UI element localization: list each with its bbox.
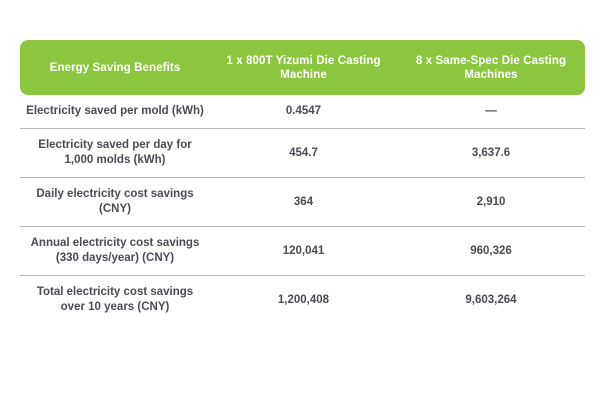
row-label: Total electricity cost savings over 10 y… (20, 276, 210, 325)
column-header-benefits-label: Energy Saving Benefits (20, 61, 210, 75)
energy-savings-table-container: Energy Saving Benefits 1 x 800T Yizumi D… (20, 40, 585, 324)
energy-savings-table: Energy Saving Benefits 1 x 800T Yizumi D… (20, 40, 585, 324)
table-row: Electricity saved per mold (kWh) 0.4547 … (20, 95, 585, 129)
row-value-eight-machines: — (397, 95, 585, 129)
row-value-single-machine: 1,200,408 (210, 276, 397, 325)
row-value-single-machine: 364 (210, 178, 397, 227)
table-row: Daily electricity cost savings (CNY) 364… (20, 178, 585, 227)
column-header-benefits: Energy Saving Benefits (20, 40, 210, 95)
row-label: Electricity saved per mold (kWh) (20, 95, 210, 129)
row-label: Daily electricity cost savings (CNY) (20, 178, 210, 227)
row-value-eight-machines: 9,603,264 (397, 276, 585, 325)
table-header-row: Energy Saving Benefits 1 x 800T Yizumi D… (20, 40, 585, 95)
table-row: Electricity saved per day for 1,000 mold… (20, 129, 585, 178)
column-header-single-machine: 1 x 800T Yizumi Die Casting Machine (210, 40, 397, 95)
table-header: Energy Saving Benefits 1 x 800T Yizumi D… (20, 40, 585, 95)
row-label: Electricity saved per day for 1,000 mold… (20, 129, 210, 178)
row-value-eight-machines: 2,910 (397, 178, 585, 227)
row-value-single-machine: 120,041 (210, 227, 397, 276)
row-value-eight-machines: 3,637.6 (397, 129, 585, 178)
column-header-eight-machines-label: 8 x Same-Spec Die Casting Machines (397, 54, 585, 82)
table-row: Annual electricity cost savings (330 day… (20, 227, 585, 276)
column-header-single-machine-label: 1 x 800T Yizumi Die Casting Machine (210, 54, 397, 82)
table-row: Total electricity cost savings over 10 y… (20, 276, 585, 325)
column-header-eight-machines: 8 x Same-Spec Die Casting Machines (397, 40, 585, 95)
row-value-single-machine: 0.4547 (210, 95, 397, 129)
row-value-eight-machines: 960,326 (397, 227, 585, 276)
table-body: Electricity saved per mold (kWh) 0.4547 … (20, 95, 585, 324)
row-value-single-machine: 454.7 (210, 129, 397, 178)
row-label: Annual electricity cost savings (330 day… (20, 227, 210, 276)
